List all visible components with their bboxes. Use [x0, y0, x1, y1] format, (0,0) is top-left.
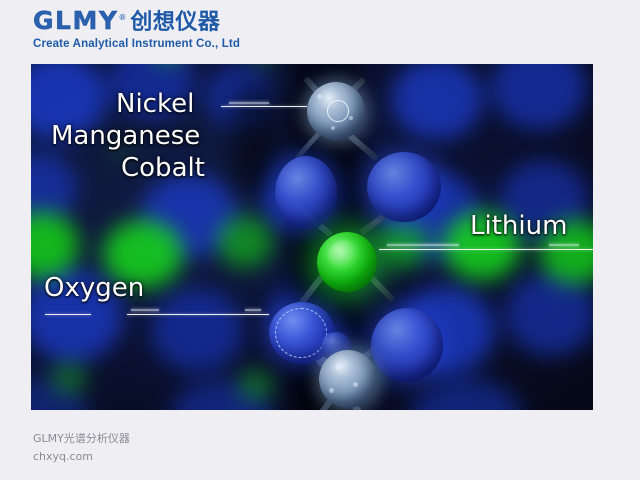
logo-chinese-name: 创想仪器: [130, 12, 220, 34]
footer-company: GLMY光谱分析仪器: [33, 430, 130, 448]
site-header: GLMY ® 创想仪器 Create Analytical Instrument…: [33, 8, 593, 56]
oxygen-highlight-ring: [275, 308, 327, 358]
leader-line-lithium-tick: [387, 244, 459, 246]
label-manganese: Manganese: [51, 122, 200, 151]
leader-line-lithium: [379, 249, 593, 250]
leader-line-oxygen-tick: [131, 309, 159, 311]
label-lithium: Lithium: [470, 212, 567, 241]
atom-texture-speck: [353, 382, 358, 387]
atom-transition-metal: [319, 350, 377, 408]
atom-texture-speck: [329, 388, 334, 393]
atom-oxygen: [275, 156, 337, 230]
label-cobalt: Cobalt: [121, 154, 205, 183]
molecular-structure-image: Nickel Manganese Cobalt Lithium Oxygen: [31, 64, 593, 410]
label-oxygen: Oxygen: [44, 274, 144, 303]
atom-texture-speck: [331, 126, 335, 130]
atom-texture-speck: [317, 94, 322, 99]
nickel-highlight-ring: [327, 100, 349, 122]
atom-texture-speck: [349, 116, 353, 120]
brand-logo[interactable]: GLMY ® 创想仪器: [33, 8, 593, 33]
leader-line-oxygen: [45, 314, 91, 315]
label-nickel: Nickel: [116, 90, 194, 119]
logo-subtitle: Create Analytical Instrument Co., Ltd: [33, 38, 593, 50]
leader-line-oxygen: [127, 314, 269, 315]
leader-line-oxygen-tick: [245, 309, 261, 311]
trademark-icon: ®: [119, 13, 125, 22]
leader-line-nickel-tick: [229, 102, 269, 104]
leader-line-lithium-tick: [549, 244, 579, 246]
atom-texture-speck: [335, 364, 341, 370]
logo-wordmark: GLMY: [33, 8, 118, 33]
atom-lithium: [317, 232, 377, 292]
atom-oxygen: [371, 308, 443, 382]
page-footer: GLMY光谱分析仪器 chxyq.com: [33, 430, 130, 466]
atom-oxygen: [367, 152, 441, 222]
footer-website[interactable]: chxyq.com: [33, 448, 130, 466]
leader-line-nickel: [221, 106, 307, 107]
